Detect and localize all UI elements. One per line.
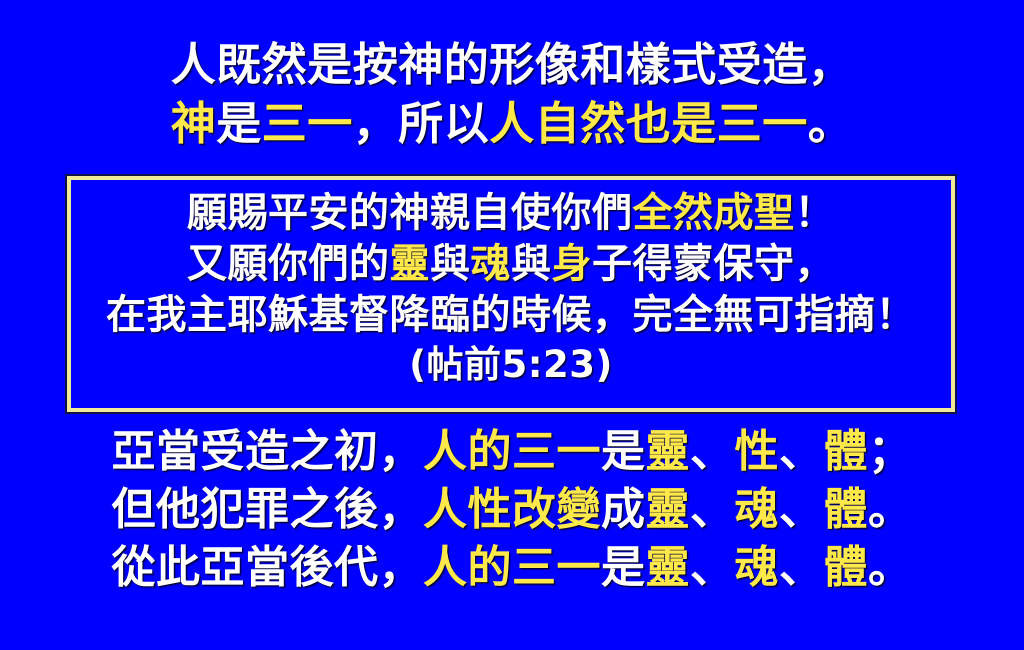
text-run: 魂 <box>735 484 780 535</box>
bottom-line-3: 從此亞當後代，人的三一是靈、魂、體。 <box>0 546 1024 590</box>
text-run: 。 <box>868 484 913 535</box>
text-run: 、 <box>690 484 735 535</box>
text-run: 神 <box>171 97 217 150</box>
text-run: 魂 <box>471 241 512 287</box>
text-run: 體 <box>824 484 869 535</box>
text-run: 但他犯罪之後， <box>112 484 424 535</box>
text-run: 又願你們的 <box>187 241 390 287</box>
text-run: 人性改變 <box>423 484 601 535</box>
top-text-block: 人既然是按神的形像和樣式受造， 神是三一，所以人自然也是三一。 <box>0 42 1024 160</box>
text-run: 亞當受造之初， <box>112 426 424 477</box>
bottom-line-2: 但他犯罪之後，人性改變成靈、魂、體。 <box>0 488 1024 532</box>
bottom-line-1: 亞當受造之初，人的三一是靈、性、體； <box>0 430 1024 474</box>
top-line-2: 神是三一，所以人自然也是三一。 <box>0 101 1024 146</box>
text-run: 與 <box>511 241 552 287</box>
text-run: ； <box>868 426 913 477</box>
text-run: ！ <box>795 190 836 236</box>
text-run: 體 <box>824 426 869 477</box>
text-run: 。 <box>868 542 913 593</box>
text-run: 、 <box>779 426 824 477</box>
text-run: 願賜平安的神親自使你們 <box>187 190 633 236</box>
text-run: 人的三一 <box>423 426 601 477</box>
text-run: 三一 <box>262 97 353 150</box>
text-run: 是 <box>216 97 262 150</box>
bottom-text-block: 亞當受造之初，人的三一是靈、性、體； 但他犯罪之後，人性改變成靈、魂、體。 從此… <box>0 430 1024 604</box>
text-run: 身 <box>552 241 593 287</box>
text-run: 魂 <box>735 542 780 593</box>
scripture-reference: (帖前5:23) <box>71 346 951 383</box>
text-run: 人的三一 <box>423 542 601 593</box>
top-line-1: 人既然是按神的形像和樣式受造， <box>0 42 1024 87</box>
text-run: 與 <box>430 241 471 287</box>
box-line-3: 在我主耶穌基督降臨的時候，完全無可指摘！ <box>71 295 951 335</box>
text-run: ， <box>353 97 399 150</box>
text-run: 人自然也是三一 <box>489 97 808 150</box>
text-run: 是 <box>601 542 646 593</box>
text-run: 、 <box>690 426 735 477</box>
text-run: 。 <box>808 97 854 150</box>
text-run: 全然成聖 <box>633 190 795 236</box>
text-run: 子得蒙保守， <box>592 241 835 287</box>
scripture-quote-box: 願賜平安的神親自使你們全然成聖！ 又願你們的靈與魂與身子得蒙保守， 在我主耶穌基… <box>67 176 955 412</box>
text-run: 在我主耶穌基督降臨的時候，完全無可指摘！ <box>106 292 916 338</box>
text-run: 、 <box>779 484 824 535</box>
text-run: 靈 <box>646 426 691 477</box>
text-run: 人既然是按神的形像和樣式受造， <box>171 38 854 91</box>
presentation-slide: 人既然是按神的形像和樣式受造， 神是三一，所以人自然也是三一。 願賜平安的神親自… <box>0 0 1024 650</box>
box-line-1: 願賜平安的神親自使你們全然成聖！ <box>71 193 951 233</box>
text-run: 性 <box>735 426 780 477</box>
text-run: 靈 <box>390 241 431 287</box>
text-run: 靈 <box>646 542 691 593</box>
text-run: 、 <box>690 542 735 593</box>
text-run: 、 <box>779 542 824 593</box>
text-run: 成 <box>601 484 646 535</box>
box-line-2: 又願你們的靈與魂與身子得蒙保守， <box>71 244 951 284</box>
text-run: 是 <box>601 426 646 477</box>
text-run: 所以 <box>398 97 489 150</box>
text-run: 從此亞當後代， <box>112 542 424 593</box>
text-run: 靈 <box>646 484 691 535</box>
text-run: 體 <box>824 542 869 593</box>
